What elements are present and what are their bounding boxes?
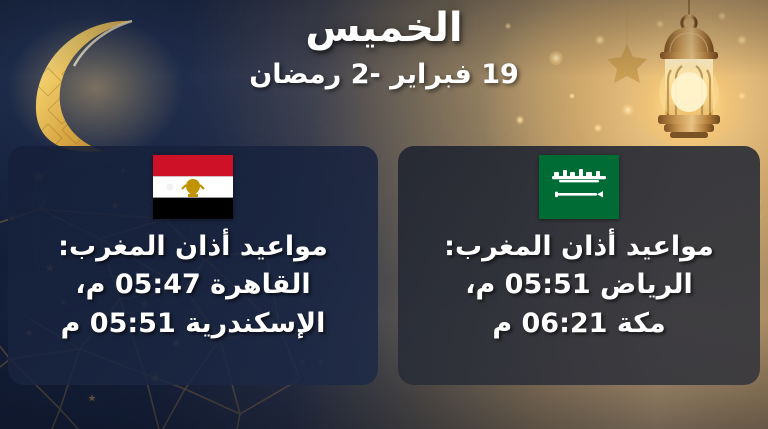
header: الخميس 19 فبراير -2 رمضان — [0, 6, 768, 90]
day-title: الخميس — [0, 6, 768, 51]
panels-container — [0, 146, 768, 386]
panel-saudi[interactable] — [398, 146, 760, 385]
date-line: 19 فبراير -2 رمضان — [0, 59, 768, 90]
saudi-arabia-flag-icon — [539, 155, 619, 219]
panel-egypt[interactable] — [8, 146, 378, 385]
egypt-flag-icon — [153, 155, 233, 219]
prayer-times-graphic: كبسولةكبسولةكبسولةكبسولةكبسولةكبسولةكبسو… — [0, 0, 768, 429]
